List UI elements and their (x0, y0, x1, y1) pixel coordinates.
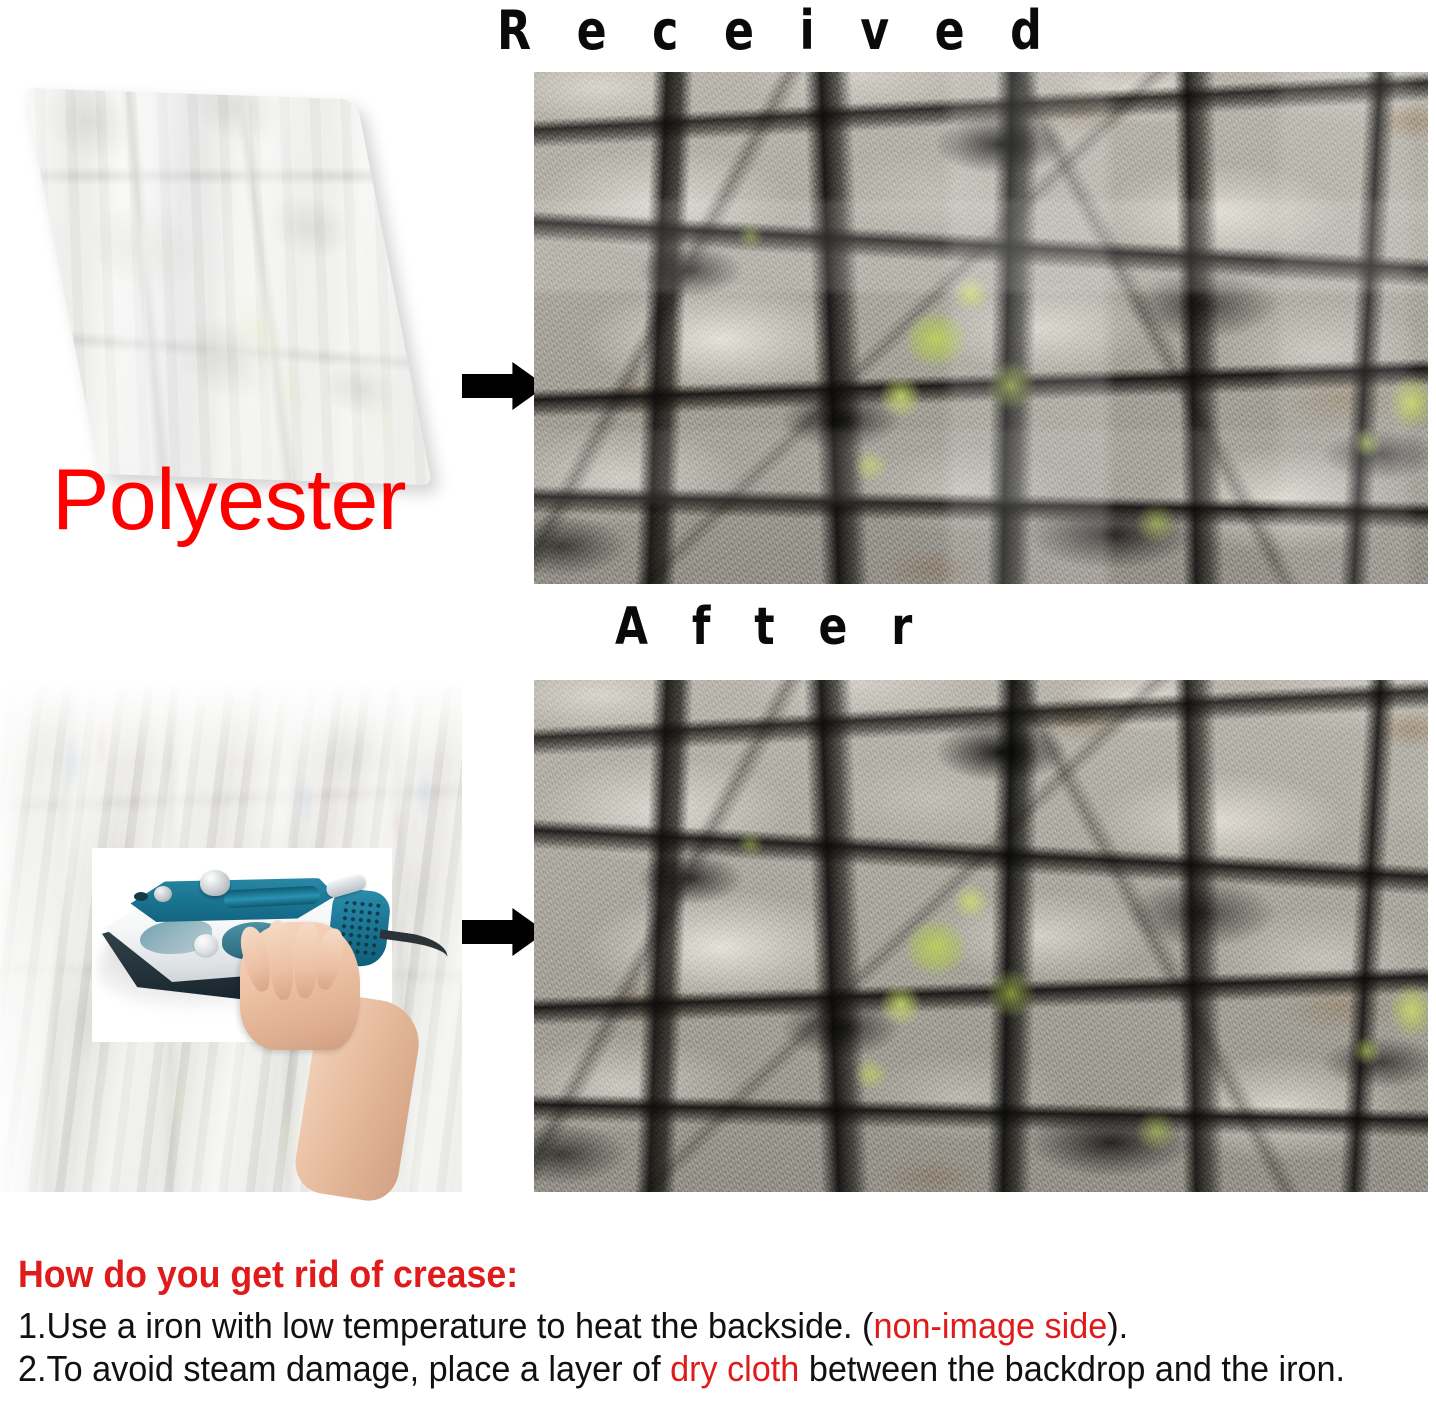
instruction-1-prefix: 1.Use a iron with low temperature to hea… (18, 1305, 873, 1346)
instructions-title: How do you get rid of crease: (18, 1252, 1345, 1298)
arrow-shaft (462, 920, 514, 943)
creased-top-fade (0, 680, 462, 762)
instruction-1-suffix: ). (1107, 1305, 1128, 1346)
after-heading: A f t e r (615, 599, 927, 655)
iron-steam-button (154, 886, 172, 902)
received-heading: R e c e i v e d (497, 2, 1057, 60)
iron-demo-photo (92, 848, 392, 1042)
after-backdrop-photo (534, 680, 1428, 1192)
iron-spray-button (134, 892, 148, 901)
rock-foliage-layer (534, 680, 1428, 1192)
fabric-sheen-layer (24, 88, 432, 485)
crease-fold-overlay (534, 72, 1428, 584)
instruction-line-1: 1.Use a iron with low temperature to hea… (18, 1304, 1359, 1347)
iron-steam-knob (200, 870, 230, 896)
instructions-block: How do you get rid of crease: 1.Use a ir… (18, 1252, 1430, 1390)
creased-left-fade (0, 680, 55, 1192)
fabric-swatch-image (24, 88, 432, 485)
iron-temperature-dial (194, 934, 218, 956)
instruction-2-highlight: dry cloth (670, 1348, 799, 1389)
polyester-label: Polyester (52, 452, 406, 548)
arrow-shaft (462, 374, 514, 397)
instruction-line-2: 2.To avoid steam damage, place a layer o… (18, 1347, 1359, 1390)
instruction-1-highlight: non-image side (873, 1305, 1107, 1346)
instruction-2-prefix: 2.To avoid steam damage, place a layer o… (18, 1348, 670, 1389)
instruction-2-suffix: between the backdrop and the iron. (799, 1348, 1345, 1389)
received-backdrop-photo (534, 72, 1428, 584)
